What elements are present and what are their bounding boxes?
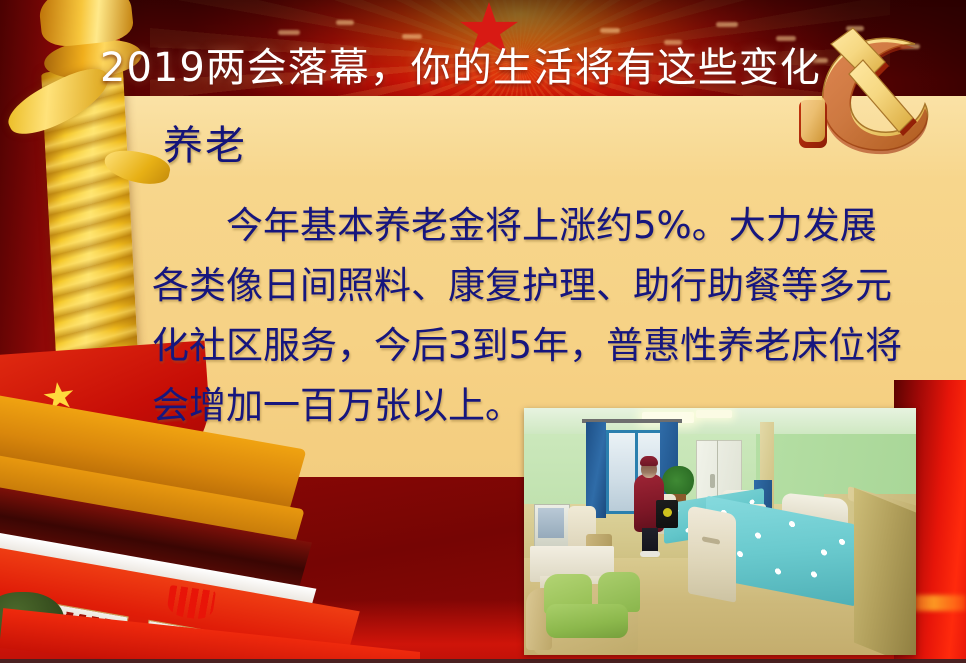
photo-elderly-woman-hat (640, 456, 658, 466)
nursing-home-room-photo (524, 408, 916, 655)
presentation-slide: 2019两会落幕，你的生活将有这些变化 养老 今年基本养老金将上涨约5%。大力发… (0, 0, 966, 663)
photo-shopping-bag-logo (663, 508, 672, 517)
photo-near-bed-footboard (688, 505, 736, 602)
light-dash-decoration (278, 30, 300, 35)
photo-monitor-screen (538, 508, 564, 538)
light-dash-decoration (402, 34, 422, 39)
light-dash-decoration (600, 28, 620, 33)
body-paragraph: 今年基本养老金将上涨约5%。大力发展各类像日间照料、康复护理、助行助餐等多元化社… (152, 196, 912, 436)
light-dash-decoration (336, 20, 354, 25)
slide-bottom-border (0, 659, 966, 663)
photo-wooden-railing (854, 487, 916, 655)
photo-wardrobe-handle (710, 474, 715, 488)
photo-curtain-left (586, 422, 606, 518)
photo-elderly-woman-shoes (640, 551, 660, 557)
photo-ceiling-light-2 (696, 410, 732, 418)
photo-armchair-seat (546, 604, 628, 638)
light-dash-decoration (716, 22, 738, 27)
section-heading: 养老 (163, 126, 247, 166)
page-title: 2019两会落幕，你的生活将有这些变化 (100, 48, 821, 88)
